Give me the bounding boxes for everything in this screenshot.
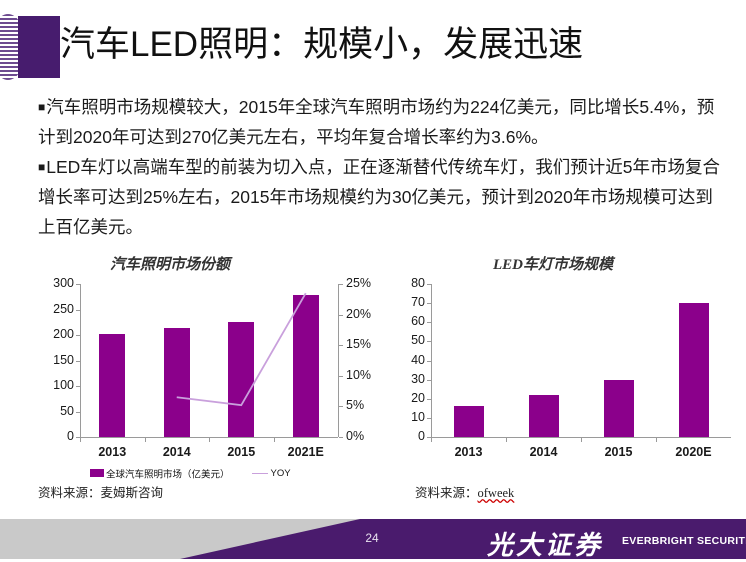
chart-source-right: 资料来源：ofweek — [415, 482, 514, 501]
chart-y-tick-label: 70 — [385, 295, 425, 309]
legend-item-bar: 全球汽车照明市场（亿美元） — [90, 468, 230, 479]
page-title: 汽车LED照明：规模小，发展迅速 — [60, 14, 720, 76]
bullet-marker-icon: ■ — [38, 160, 45, 174]
chart-plot-area-right: 010203040506070802013201420152020E — [393, 280, 743, 465]
chart-source-right-name: ofweek — [478, 486, 515, 500]
chart-plot-area-left: 0501001502002503000%5%10%15%20%25%201320… — [30, 280, 390, 465]
footer-step-4 — [108, 549, 203, 554]
chart-y-tick-label: 20 — [385, 391, 425, 405]
chart-y-tick-label: 50 — [385, 333, 425, 347]
page-number: 24 — [352, 531, 392, 545]
chart-x-tick-label: 2013 — [431, 445, 506, 459]
legend-item-line: YOY — [252, 468, 291, 479]
slide-footer: 24 光大证券 EVERBRIGHT SECURITIES — [0, 519, 746, 559]
header-purple-block-decoration — [18, 16, 60, 78]
chart-led-car-lamp-market-size: LED车灯市场规模 010203040506070802013201420152… — [393, 250, 743, 500]
chart-yoy-line — [30, 280, 390, 465]
legend-swatch-line — [252, 473, 268, 474]
chart-x-tick-label: 2014 — [506, 445, 581, 459]
legend-label-bar: 全球汽车照明市场（亿美元） — [106, 469, 230, 480]
chart-y-tick-label: 80 — [385, 276, 425, 290]
body-paragraph-2-text: LED车灯以高端车型的前装为切入点，正在逐渐替代传统车灯，我们预计近5年市场复合… — [38, 157, 720, 237]
chart-bar — [454, 406, 484, 437]
company-logo-cn: 光大证券 — [487, 525, 603, 562]
chart-y-tick — [427, 303, 431, 304]
body-paragraph-1-text: 汽车照明市场规模较大，2015年全球汽车照明市场约为224亿美元，同比增长5.4… — [38, 97, 714, 147]
company-logo-en: EVERBRIGHT SECURITIES — [622, 535, 746, 547]
chart-x-tick — [431, 438, 432, 442]
legend-swatch-bar — [90, 469, 104, 477]
chart-x-tick-label: 2015 — [581, 445, 656, 459]
chart-y-tick — [427, 322, 431, 323]
chart-x-tick-label: 2020E — [656, 445, 731, 459]
chart-auto-lighting-market-share: 汽车照明市场份额 0501001502002503000%5%10%15%20%… — [30, 250, 390, 500]
chart-y-tick — [427, 399, 431, 400]
chart-y-tick — [427, 418, 431, 419]
slide-header: 汽车LED照明：规模小，发展迅速 — [0, 0, 746, 88]
chart-x-tick — [506, 438, 507, 442]
chart-y-tick — [427, 284, 431, 285]
chart-bar — [679, 303, 709, 437]
chart-y-tick-label: 60 — [385, 314, 425, 328]
chart-legend-left: 全球汽车照明市场（亿美元）YOY — [90, 466, 291, 480]
chart-y-tick-label: 30 — [385, 372, 425, 386]
chart-source-left: 资料来源：麦姆斯咨询 — [38, 482, 163, 501]
body-paragraph-1: ■汽车照明市场规模较大，2015年全球汽车照明市场约为224亿美元，同比增长5.… — [38, 92, 728, 152]
chart-bar — [529, 395, 559, 437]
chart-x-tick — [581, 438, 582, 442]
footer-step-3 — [100, 540, 210, 545]
chart-bar — [604, 380, 634, 437]
chart-y-tick-label: 40 — [385, 353, 425, 367]
body-text-block: ■汽车照明市场规模较大，2015年全球汽车照明市场约为224亿美元，同比增长5.… — [38, 92, 728, 242]
legend-label-line: YOY — [271, 468, 291, 479]
chart-y-tick-label: 10 — [385, 410, 425, 424]
chart-title-left: 汽车照明市场份额 — [30, 253, 310, 274]
chart-y-tick-label: 0 — [385, 429, 425, 443]
bullet-marker-icon: ■ — [38, 100, 45, 114]
chart-title-right: LED车灯市场规模 — [413, 253, 693, 274]
footer-step-1 — [170, 524, 200, 529]
chart-y-tick — [427, 341, 431, 342]
body-paragraph-2: ■LED车灯以高端车型的前装为切入点，正在逐渐替代传统车灯，我们预计近5年市场复… — [38, 152, 728, 242]
chart-x-tick — [656, 438, 657, 442]
chart-source-right-prefix: 资料来源： — [415, 486, 478, 500]
chart-y-tick — [427, 361, 431, 362]
chart-y-axis-line — [431, 284, 432, 437]
chart-y-tick — [427, 380, 431, 381]
slide: 汽车LED照明：规模小，发展迅速 ■汽车照明市场规模较大，2015年全球汽车照明… — [0, 0, 746, 559]
footer-step-2 — [112, 532, 212, 537]
